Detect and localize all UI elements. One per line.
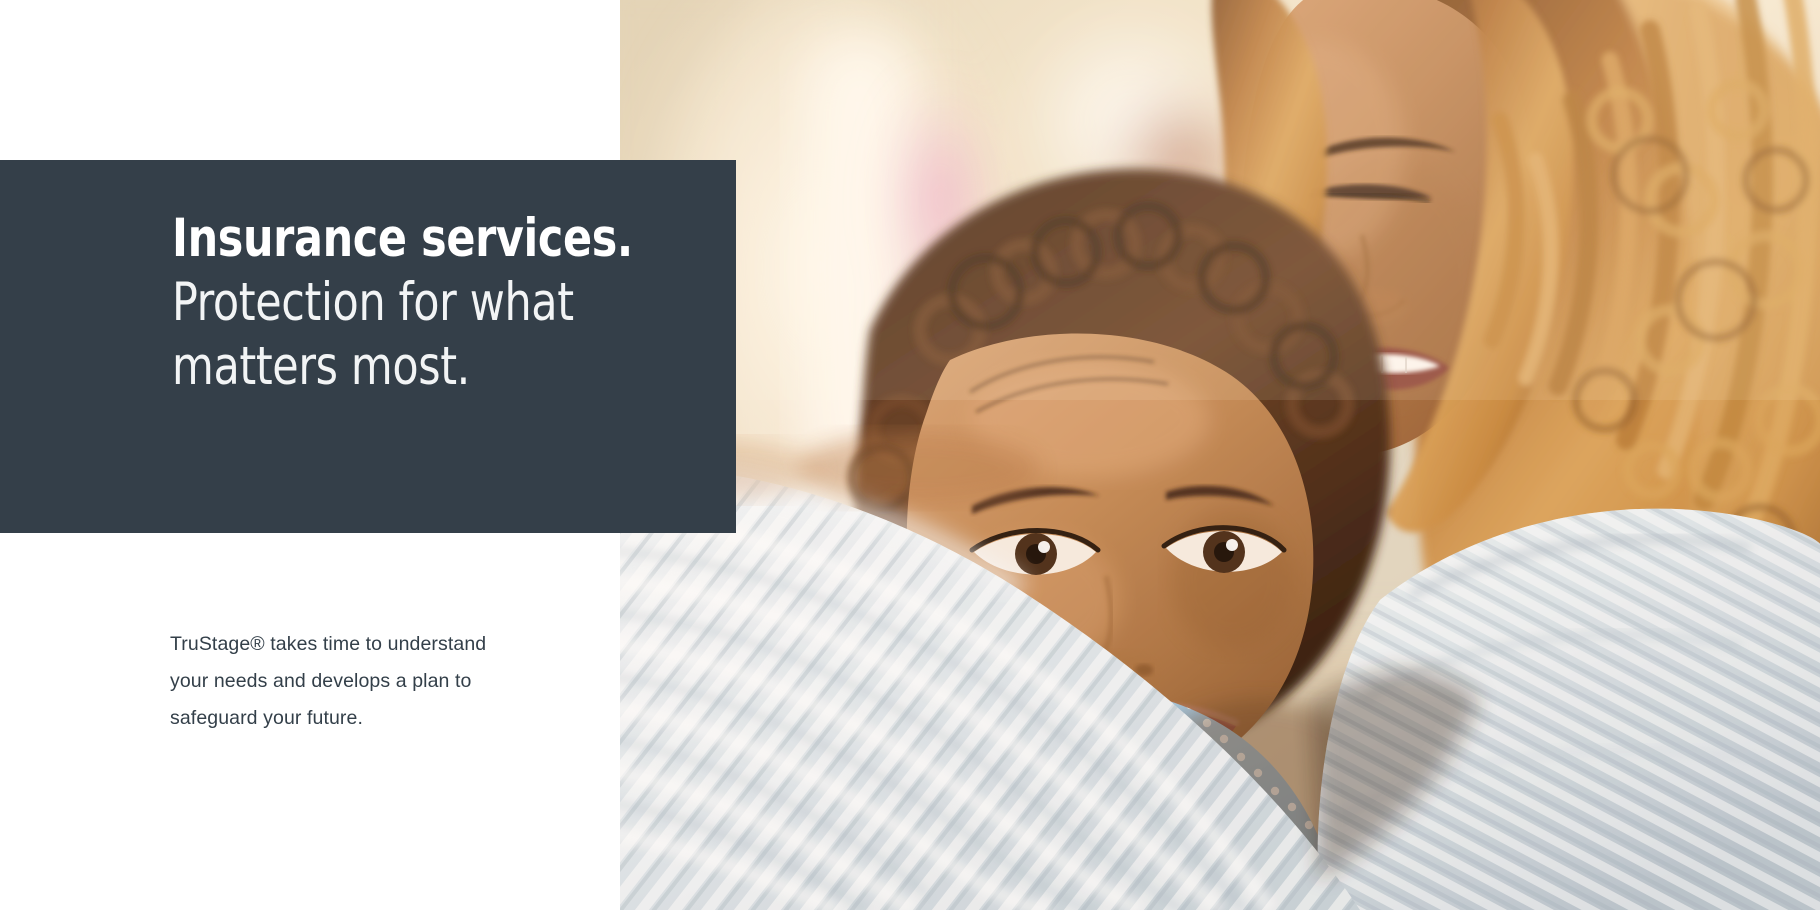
headline-block: Insurance services. Protection for what … [172,207,732,399]
headline-panel: Insurance services. Protection for what … [0,160,736,533]
hero-banner: Insurance services. Protection for what … [0,0,1820,910]
hero-photo [620,0,1820,910]
headline-line-3: matters most. [172,335,676,399]
body-paragraph: TruStage® takes time to understand your … [170,626,500,737]
headline-line-1: Insurance services. [172,207,676,271]
body-copy: TruStage® takes time to understand your … [170,626,500,737]
headline-line-2: Protection for what [172,271,676,335]
